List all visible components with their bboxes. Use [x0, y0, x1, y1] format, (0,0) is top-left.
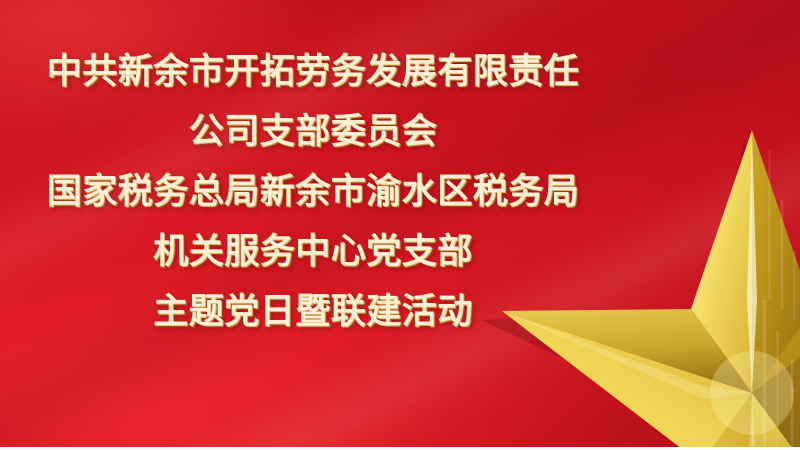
title-line-4: 机关服务中心党支部	[0, 222, 626, 282]
title-line-3: 国家税务总局新余市渝水区税务局	[0, 162, 626, 222]
title-line-5: 主题党日暨联建活动	[0, 282, 626, 342]
event-backdrop-poster: 中共新余市开拓劳务发展有限责任 公司支部委员会 国家税务总局新余市渝水区税务局 …	[0, 0, 800, 450]
title-line-1: 中共新余市开拓劳务发展有限责任	[0, 42, 626, 102]
poster-title-block: 中共新余市开拓劳务发展有限责任 公司支部委员会 国家税务总局新余市渝水区税务局 …	[0, 42, 626, 342]
title-line-2: 公司支部委员会	[0, 102, 626, 162]
